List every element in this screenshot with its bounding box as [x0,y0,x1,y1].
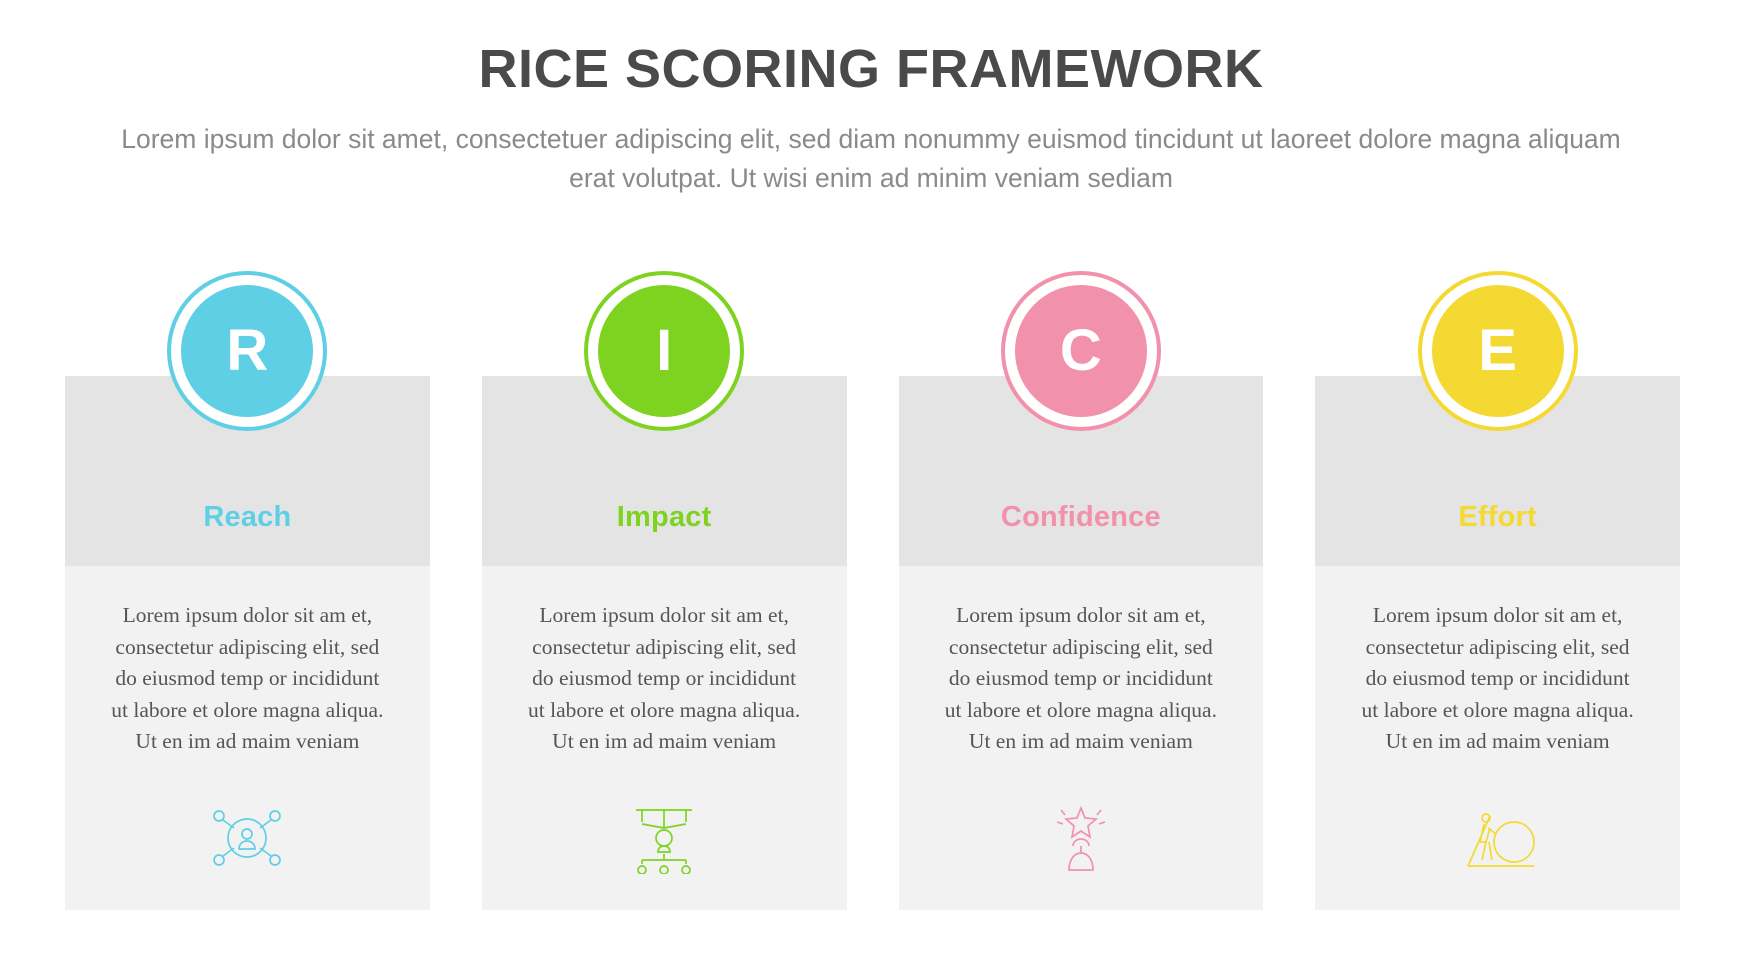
card-header-reach: R Reach [65,376,430,566]
badge-ring-confidence [1001,271,1161,431]
card-description-reach: Lorem ipsum dolor sit am et, consectetur… [107,600,388,758]
card-header-impact: I Impact [482,376,847,566]
network-user-icon [65,802,430,874]
card-body-confidence: Lorem ipsum dolor sit am et, consectetur… [899,566,1264,758]
card-title-impact: Impact [617,501,712,534]
card-title-confidence: Confidence [1001,501,1161,534]
card-description-effort: Lorem ipsum dolor sit am et, consectetur… [1357,600,1638,758]
badge-ring-reach [167,271,327,431]
card-impact[interactable]: I Impact Lorem ipsum dolor sit am et, co… [482,376,847,910]
badge-ring-effort [1418,271,1578,431]
card-body-reach: Lorem ipsum dolor sit am et, consectetur… [65,566,430,758]
header: RICE SCORING FRAMEWORK Lorem ipsum dolor… [0,0,1742,197]
card-effort[interactable]: E Effort Lorem ipsum dolor sit am et, co… [1315,376,1680,910]
card-title-effort: Effort [1458,501,1537,534]
card-reach[interactable]: R Reach Lorem ipsum dolor sit am et, con… [65,376,430,910]
push-boulder-icon [1315,802,1680,874]
hand-star-icon [899,802,1264,874]
page-subtitle: Lorem ipsum dolor sit amet, consectetuer… [111,120,1631,197]
card-confidence[interactable]: C Confidence Lorem ipsum dolor sit am et… [899,376,1264,910]
card-description-impact: Lorem ipsum dolor sit am et, consectetur… [524,600,805,758]
badge-impact: I [584,271,744,431]
card-header-effort: E Effort [1315,376,1680,566]
badge-confidence: C [1001,271,1161,431]
card-list: R Reach Lorem ipsum dolor sit am et, con… [65,376,1680,910]
infographic-page: RICE SCORING FRAMEWORK Lorem ipsum dolor… [0,0,1742,980]
card-header-confidence: C Confidence [899,376,1264,566]
card-description-confidence: Lorem ipsum dolor sit am et, consectetur… [941,600,1222,758]
badge-effort: E [1418,271,1578,431]
team-structure-icon [482,802,847,874]
card-body-impact: Lorem ipsum dolor sit am et, consectetur… [482,566,847,758]
card-body-effort: Lorem ipsum dolor sit am et, consectetur… [1315,566,1680,758]
card-title-reach: Reach [203,501,291,534]
badge-ring-impact [584,271,744,431]
badge-reach: R [167,271,327,431]
page-title: RICE SCORING FRAMEWORK [0,38,1742,100]
